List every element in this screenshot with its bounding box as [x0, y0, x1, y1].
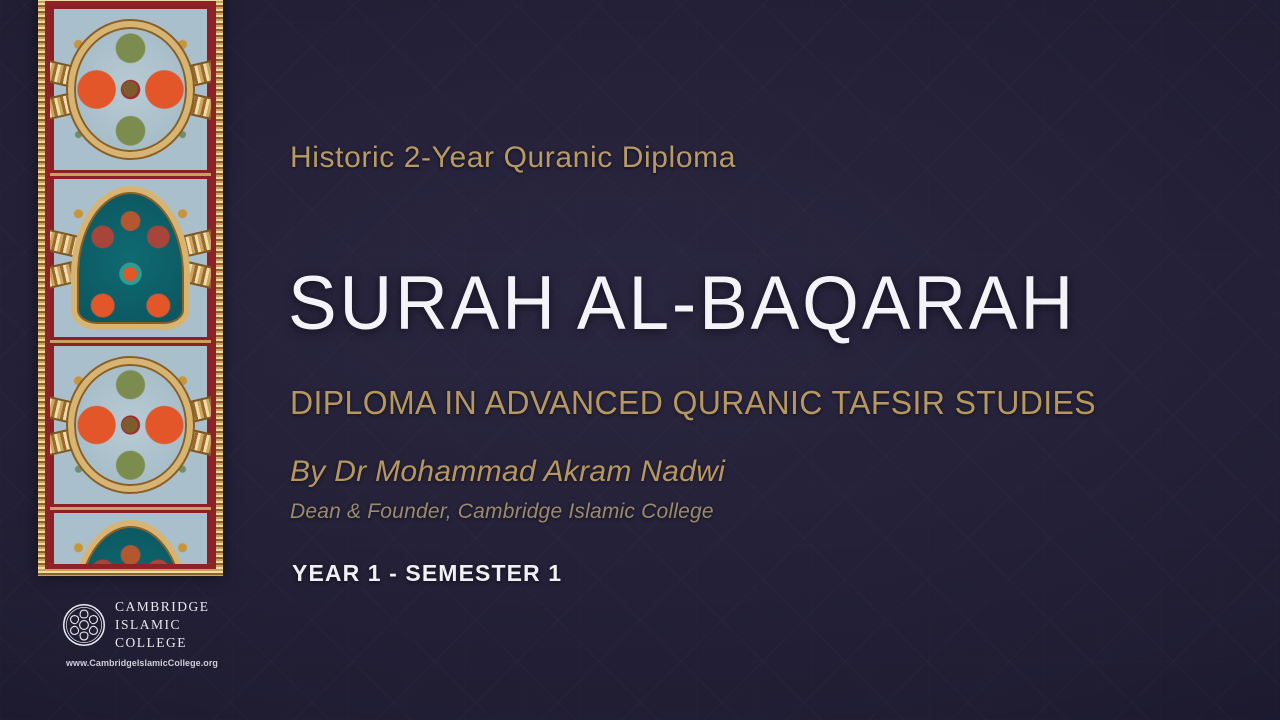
ornament-cell: [50, 340, 211, 507]
author-role: Dean & Founder, Cambridge Islamic Colleg…: [290, 500, 714, 524]
page-subtitle: DIPLOMA IN ADVANCED QURANIC TAFSIR STUDI…: [290, 386, 1096, 419]
slide-text-block: Historic 2-Year Quranic Diploma SURAH AL…: [288, 0, 1188, 720]
ornament-inner-field-2: [50, 6, 211, 564]
ornament-cell: [50, 173, 211, 340]
islamic-border-ornament-panel: [38, 0, 223, 576]
logo-line-1: CAMBRIDGE: [115, 598, 210, 616]
ornament-medallion-oval: [68, 358, 194, 492]
ornament-cell: [50, 507, 211, 564]
logo-line-2: ISLAMIC: [115, 616, 210, 634]
semester-label: YEAR 1 - SEMESTER 1: [292, 560, 562, 587]
title-slide: Historic 2-Year Quranic Diploma SURAH AL…: [0, 0, 1280, 720]
page-title: SURAH AL-BAQARAH: [288, 266, 1076, 342]
logo-line-3: COLLEGE: [115, 634, 210, 652]
institution-logo: CAMBRIDGE ISLAMIC COLLEGE www.CambridgeI…: [62, 598, 242, 678]
ornament-medallion-oval: [68, 21, 194, 158]
website-url: www.CambridgeIslamicCollege.org: [66, 658, 231, 669]
logo-row: CAMBRIDGE ISLAMIC COLLEGE: [62, 598, 242, 651]
logo-wordmark: CAMBRIDGE ISLAMIC COLLEGE: [115, 598, 210, 651]
kicker-line: Historic 2-Year Quranic Diploma: [290, 141, 736, 175]
cambridge-islamic-college-emblem-icon: [62, 603, 106, 647]
ornament-cell: [50, 6, 211, 173]
ornament-inner-field: [45, 1, 216, 569]
author-byline: By Dr Mohammad Akram Nadwi: [290, 455, 725, 489]
